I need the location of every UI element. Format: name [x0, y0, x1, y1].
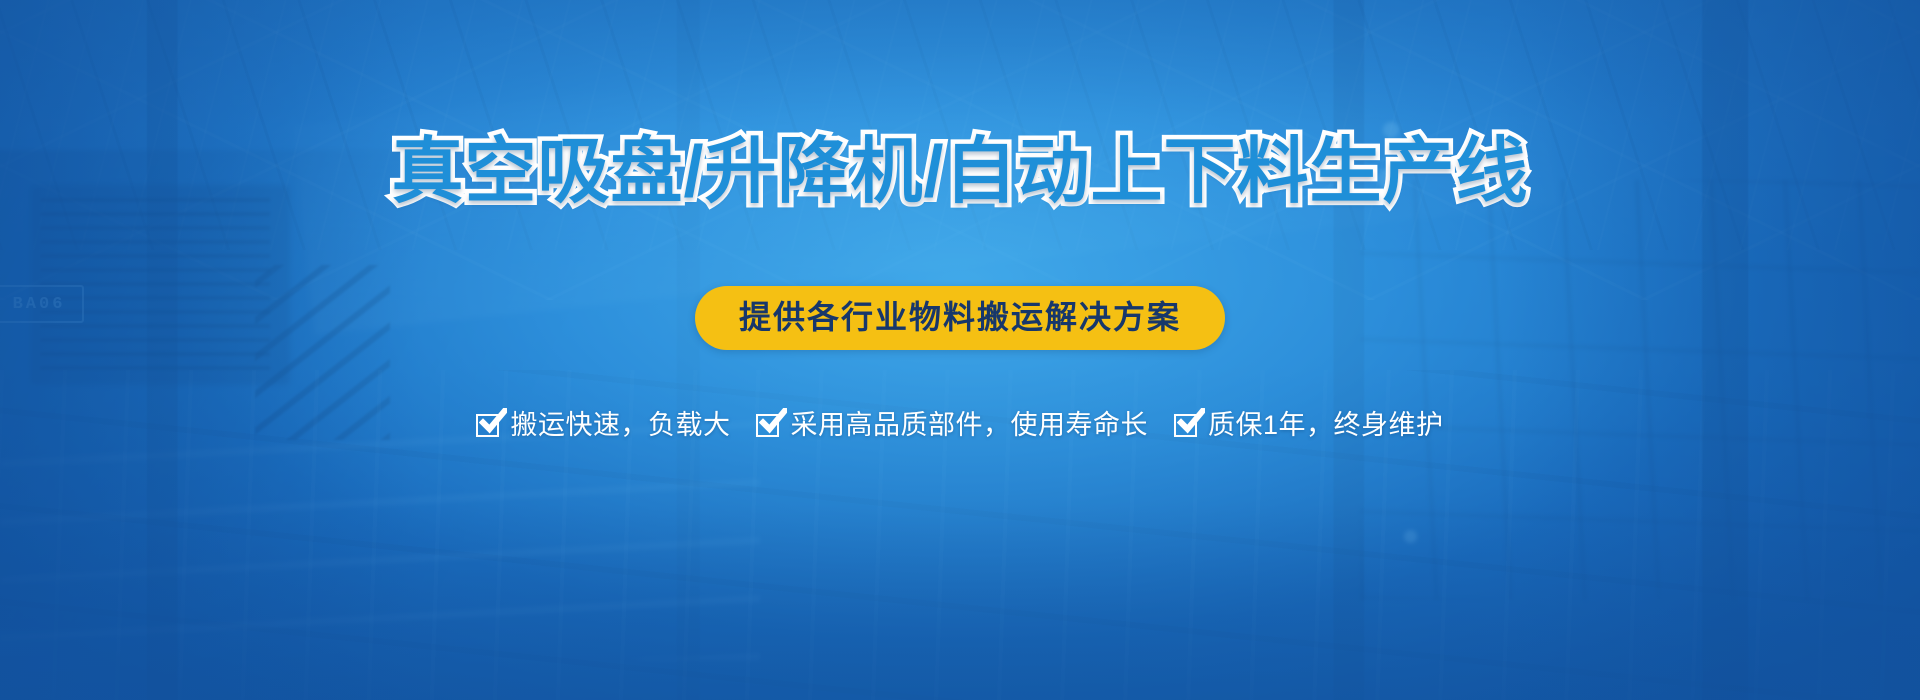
feature-label: 采用高品质部件，使用寿命长	[790, 412, 1148, 439]
banner-content: 真空吸盘/升降机/自动上下料生产线 提供各行业物料搬运解决方案 搬运快速，负载大	[0, 0, 1920, 700]
feature-item: 采用高品质部件，使用寿命长	[756, 412, 1148, 439]
tagline-badge: 提供各行业物料搬运解决方案	[695, 286, 1225, 350]
banner-headline: 真空吸盘/升降机/自动上下料生产线	[391, 136, 1528, 208]
feature-item: 质保1年，终身维护	[1174, 412, 1444, 439]
checkbox-check-icon	[476, 412, 503, 439]
promo-banner: BA06 真空吸盘/升降机/自动上下料生产线 提供各行业物料搬运解决方案 搬运快…	[0, 0, 1920, 700]
feature-label: 搬运快速，负载大	[510, 412, 730, 439]
checkbox-check-icon	[1174, 412, 1201, 439]
feature-item: 搬运快速，负载大	[476, 412, 730, 439]
badge-row: 提供各行业物料搬运解决方案	[695, 286, 1225, 350]
feature-list: 搬运快速，负载大 采用高品质部件，使用寿命长 质保1	[476, 412, 1443, 439]
checkbox-check-icon	[756, 412, 783, 439]
feature-label: 质保1年，终身维护	[1208, 412, 1444, 439]
